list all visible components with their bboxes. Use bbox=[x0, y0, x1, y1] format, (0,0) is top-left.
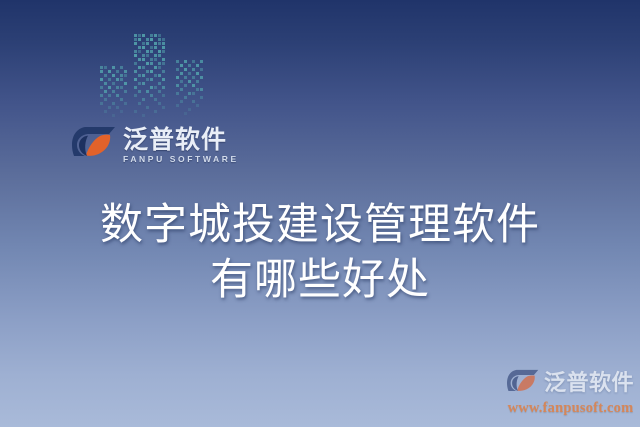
brand-wordmark: 泛普软件 FANPU SOFTWARE bbox=[123, 127, 239, 164]
brand-name-cn: 泛普软件 bbox=[123, 127, 239, 152]
brand-name-en: FANPU SOFTWARE bbox=[123, 155, 239, 164]
watermark-logo: 泛普软件 bbox=[507, 369, 634, 399]
brand-logo: 泛普软件 FANPU SOFTWARE bbox=[72, 126, 239, 165]
page-title-line-2: 有哪些好处 bbox=[0, 253, 640, 308]
watermark-url: www.fanpusoft.com bbox=[507, 400, 634, 417]
promo-banner: 泛普软件 FANPU SOFTWARE 数字城投建设管理软件 有哪些好处 泛普软… bbox=[0, 0, 640, 427]
pixel-city-skyline-icon bbox=[96, 30, 212, 126]
watermark: 泛普软件 www.fanpusoft.com bbox=[507, 369, 634, 417]
page-title: 数字城投建设管理软件 有哪些好处 bbox=[0, 198, 640, 308]
fanpu-logo-mark-icon bbox=[72, 126, 116, 165]
page-title-line-1: 数字城投建设管理软件 bbox=[0, 198, 640, 253]
watermark-name-cn: 泛普软件 bbox=[544, 373, 634, 395]
fanpu-watermark-mark-icon bbox=[507, 369, 539, 399]
